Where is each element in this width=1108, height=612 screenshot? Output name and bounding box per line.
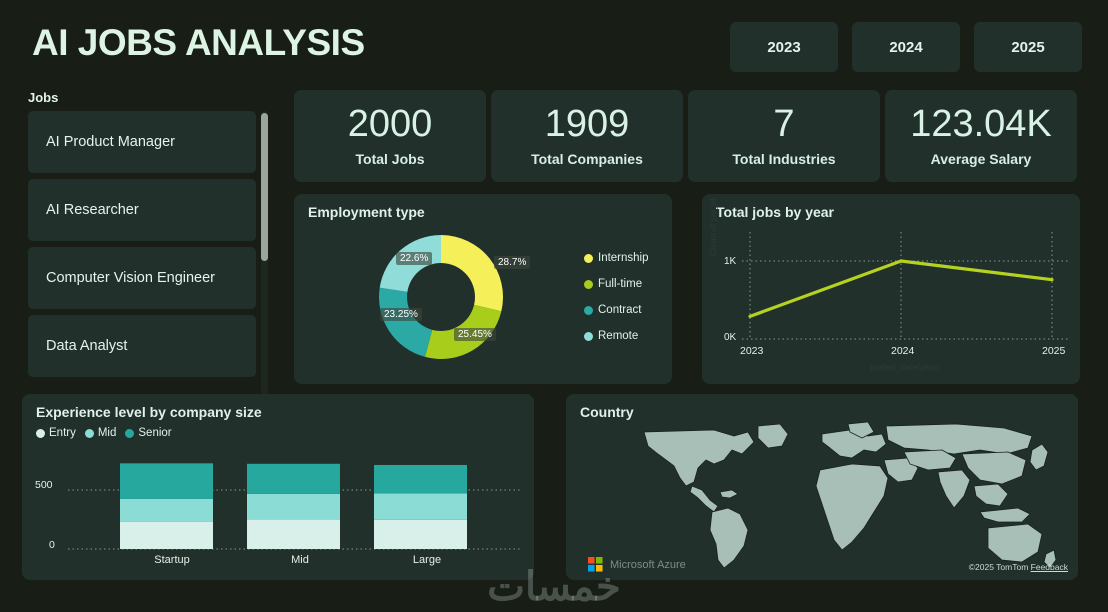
map-region-africa[interactable] bbox=[816, 464, 888, 550]
donut-pct-remote: 22.6% bbox=[396, 252, 432, 265]
year-button-2025[interactable]: 2025 bbox=[974, 22, 1082, 72]
year-button-2023[interactable]: 2023 bbox=[730, 22, 838, 72]
map-region-greenland[interactable] bbox=[758, 424, 788, 448]
experience-by-company-size-panel: Experience level by company size Entry M… bbox=[22, 394, 534, 580]
jobs-sidebar: Jobs AI Product Manager AI Researcher Co… bbox=[28, 90, 268, 396]
map-region-china[interactable] bbox=[962, 452, 1026, 484]
bar-segment-startup-entry[interactable] bbox=[120, 522, 213, 549]
legend-item-remote[interactable]: Remote bbox=[584, 330, 649, 342]
donut-pct-contract: 23.25% bbox=[380, 308, 422, 321]
bar-segment-large-entry[interactable] bbox=[374, 520, 467, 549]
legend-label: Full-time bbox=[598, 278, 642, 290]
dashboard-root: AI JOBS ANALYSIS 2023 2024 2025 Jobs AI … bbox=[0, 0, 1108, 612]
kpi-card-total-companies[interactable]: 1909 Total Companies bbox=[491, 90, 683, 182]
sidebar-item-label: AI Researcher bbox=[46, 202, 139, 218]
total-jobs-by-year-panel: Total jobs by year Count of job_id poste… bbox=[702, 194, 1080, 384]
kpi-label: Total Industries bbox=[732, 151, 835, 167]
map-region-south-america[interactable] bbox=[710, 508, 748, 568]
line-chart-svg[interactable] bbox=[702, 194, 1080, 384]
legend-dot-remote bbox=[584, 332, 593, 341]
sidebar-scrollbar-thumb[interactable] bbox=[261, 113, 268, 261]
bar-segment-large-senior[interactable] bbox=[374, 465, 467, 493]
kpi-label: Total Companies bbox=[531, 151, 643, 167]
legend-dot-fulltime bbox=[584, 280, 593, 289]
sidebar-item-computer-vision-engineer[interactable]: Computer Vision Engineer bbox=[28, 247, 256, 309]
legend-label: Remote bbox=[598, 330, 638, 342]
map-region-caribbean[interactable] bbox=[720, 490, 738, 498]
map-region-russia[interactable] bbox=[886, 424, 1032, 454]
kpi-label: Total Jobs bbox=[356, 151, 425, 167]
world-map-svg[interactable] bbox=[636, 420, 1056, 570]
kpi-value: 7 bbox=[773, 105, 794, 145]
watermark: خمسات bbox=[0, 564, 1108, 610]
map-region-central-america[interactable] bbox=[690, 486, 718, 512]
map-region-sea[interactable] bbox=[974, 484, 1008, 506]
country-map-panel: Country Microsoft Azure ©2025 TomTom Fee… bbox=[566, 394, 1078, 580]
donut-pct-fulltime: 25.45% bbox=[454, 328, 496, 341]
bar-segment-mid-mid[interactable] bbox=[247, 494, 340, 519]
bar-segment-mid-senior[interactable] bbox=[247, 464, 340, 494]
legend-item-internship[interactable]: Internship bbox=[584, 252, 649, 264]
donut-slice-internship[interactable] bbox=[441, 235, 503, 311]
map-region-australia[interactable] bbox=[988, 524, 1042, 562]
kpi-value: 2000 bbox=[348, 105, 433, 145]
donut-pct-internship: 28.7% bbox=[494, 256, 530, 269]
page-title: AI JOBS ANALYSIS bbox=[32, 22, 365, 64]
sidebar-item-ai-product-manager[interactable]: AI Product Manager bbox=[28, 111, 256, 173]
kpi-card-group: 2000 Total Jobs 1909 Total Companies 7 T… bbox=[294, 90, 1077, 182]
sidebar-item-data-analyst[interactable]: Data Analyst bbox=[28, 315, 256, 377]
country-map-title: Country bbox=[580, 404, 634, 420]
legend-label: Contract bbox=[598, 304, 641, 316]
map-region-japan[interactable] bbox=[1030, 444, 1048, 470]
bar-segment-mid-entry[interactable] bbox=[247, 519, 340, 549]
employment-type-panel: Employment type 28.7% 25.45% 23.25% 22.6… bbox=[294, 194, 672, 384]
year-filter-group: 2023 2024 2025 bbox=[730, 22, 1082, 72]
sidebar-item-label: Computer Vision Engineer bbox=[46, 270, 215, 286]
map-region-indonesia[interactable] bbox=[980, 508, 1030, 522]
sidebar-item-label: AI Product Manager bbox=[46, 134, 175, 150]
kpi-label: Average Salary bbox=[931, 151, 1032, 167]
legend-label: Internship bbox=[598, 252, 649, 264]
kpi-value: 123.04K bbox=[910, 105, 1052, 145]
map-region-india[interactable] bbox=[938, 470, 970, 508]
bar-chart-svg[interactable] bbox=[22, 394, 534, 580]
kpi-card-total-jobs[interactable]: 2000 Total Jobs bbox=[294, 90, 486, 182]
bar-segment-startup-senior[interactable] bbox=[120, 463, 213, 499]
kpi-card-average-salary[interactable]: 123.04K Average Salary bbox=[885, 90, 1077, 182]
year-button-2024[interactable]: 2024 bbox=[852, 22, 960, 72]
bar-segment-large-mid[interactable] bbox=[374, 493, 467, 520]
legend-dot-contract bbox=[584, 306, 593, 315]
donut-svg bbox=[376, 232, 506, 362]
donut-slice-contract[interactable] bbox=[379, 288, 432, 357]
employment-type-title: Employment type bbox=[308, 204, 425, 220]
bar-segment-startup-mid[interactable] bbox=[120, 499, 213, 522]
legend-item-fulltime[interactable]: Full-time bbox=[584, 278, 649, 290]
legend-dot-internship bbox=[584, 254, 593, 263]
legend-item-contract[interactable]: Contract bbox=[584, 304, 649, 316]
kpi-value: 1909 bbox=[545, 105, 630, 145]
sidebar-heading: Jobs bbox=[28, 90, 268, 105]
sidebar-list: AI Product Manager AI Researcher Compute… bbox=[28, 111, 268, 396]
employment-legend: Internship Full-time Contract Remote bbox=[584, 252, 649, 356]
sidebar-item-ai-researcher[interactable]: AI Researcher bbox=[28, 179, 256, 241]
map-region-north-america[interactable] bbox=[644, 430, 754, 486]
sidebar-item-label: Data Analyst bbox=[46, 338, 127, 354]
employment-donut-chart[interactable] bbox=[376, 232, 506, 362]
